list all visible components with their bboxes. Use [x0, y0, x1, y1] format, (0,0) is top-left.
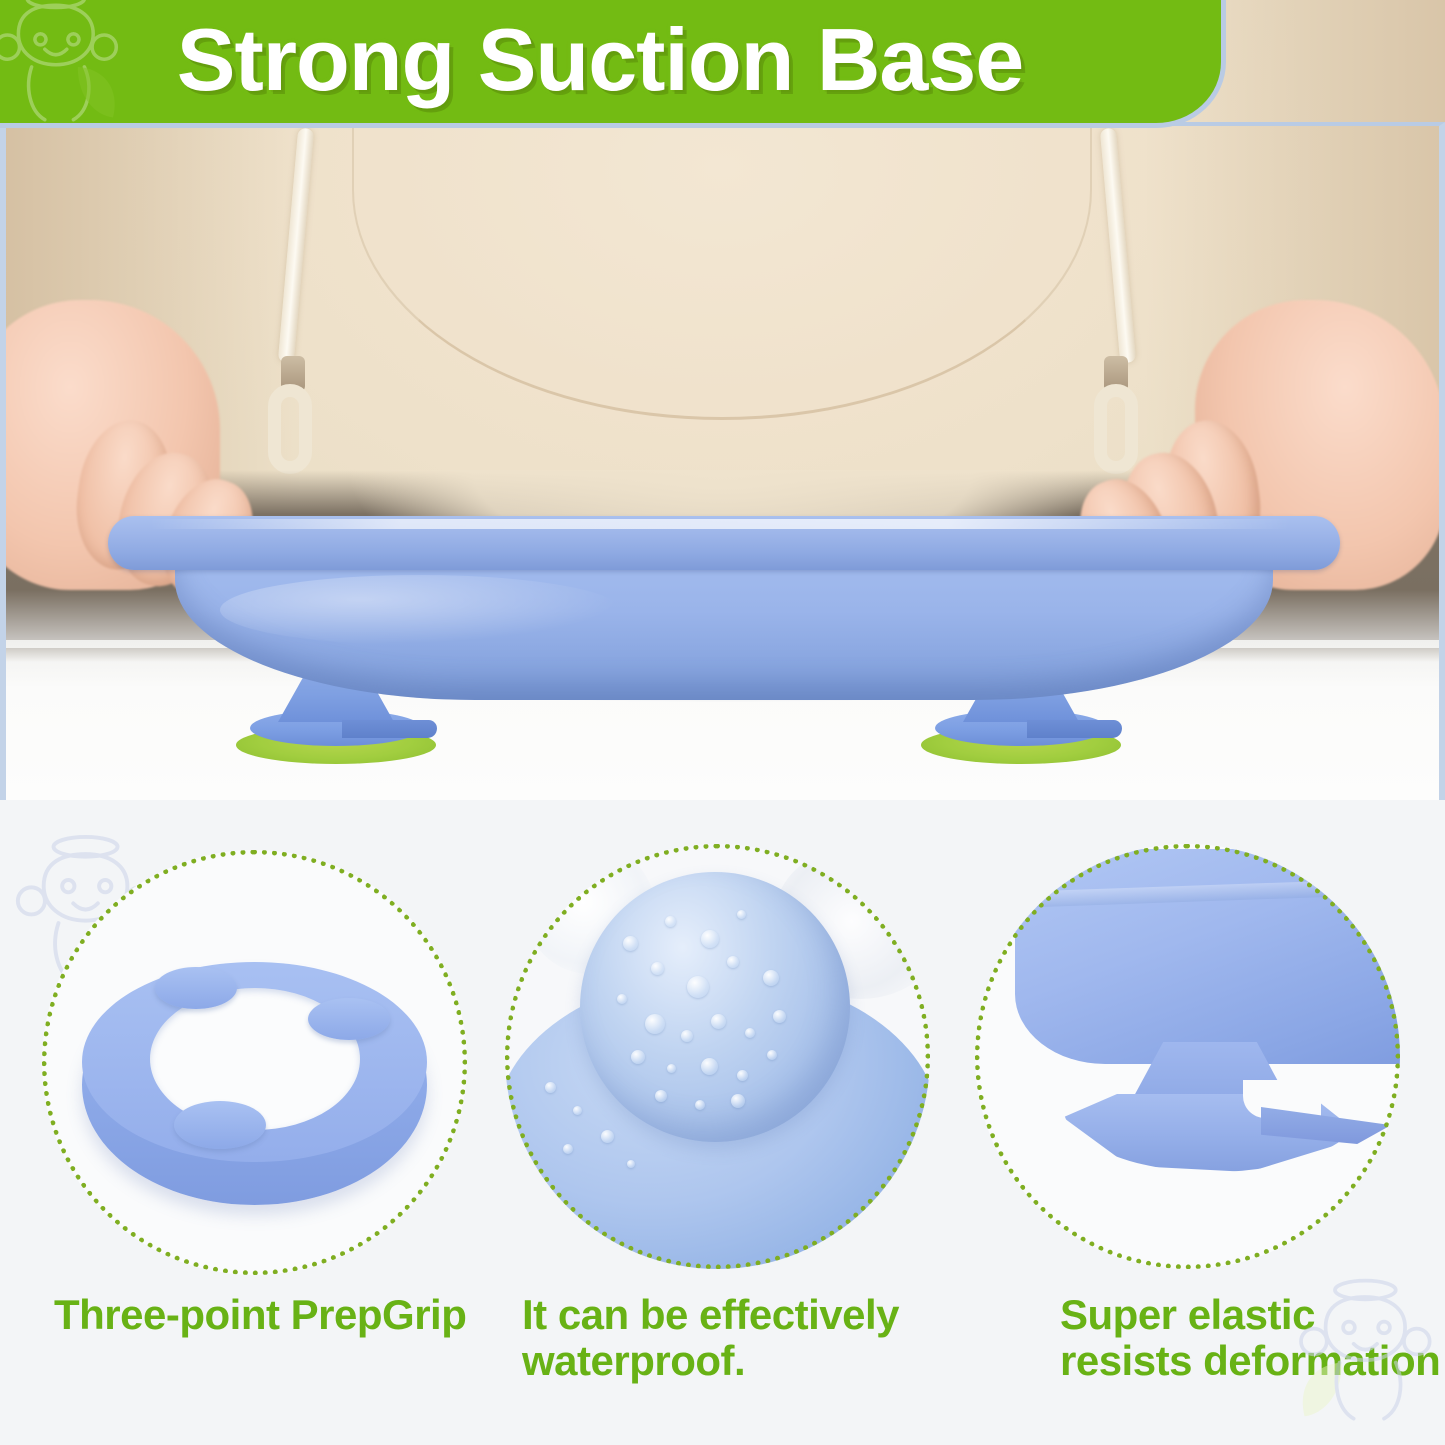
caption-line: It can be effectively — [522, 1292, 952, 1338]
features-section: Three-point PrepGrip It can be effective… — [0, 800, 1445, 1445]
feature-panel-super-elastic[interactable] — [975, 844, 1400, 1284]
product-infographic: Strong Suction Base — [0, 0, 1445, 1445]
plate-rim-highlight — [150, 519, 1290, 529]
panel-dotted-border-2 — [505, 844, 930, 1269]
plate-body-highlight — [220, 575, 620, 645]
suction-release-tab-left — [342, 720, 437, 738]
caption-three-point-prepgrip: Three-point PrepGrip — [54, 1292, 494, 1338]
suction-release-tab-right — [1027, 720, 1122, 738]
caption-line: Super elastic — [1060, 1292, 1445, 1338]
caption-line: resists deformation — [1060, 1338, 1445, 1384]
panel-dotted-border-1 — [42, 850, 467, 1275]
caption-waterproof: It can be effectively waterproof. — [522, 1292, 952, 1384]
feature-panels — [0, 830, 1445, 1300]
caption-line: waterproof. — [522, 1338, 952, 1384]
panel-dotted-border-3 — [975, 844, 1400, 1269]
banner-title: Strong Suction Base — [0, 0, 1226, 128]
caption-super-elastic: Super elastic resists deformation — [1060, 1292, 1445, 1384]
header-banner: Strong Suction Base — [0, 0, 1226, 128]
caption-line: Three-point PrepGrip — [54, 1292, 494, 1338]
feature-panel-waterproof[interactable] — [505, 844, 930, 1284]
feature-panel-three-point-prepgrip[interactable] — [42, 850, 467, 1290]
feature-captions: Three-point PrepGrip It can be effective… — [0, 1288, 1445, 1428]
